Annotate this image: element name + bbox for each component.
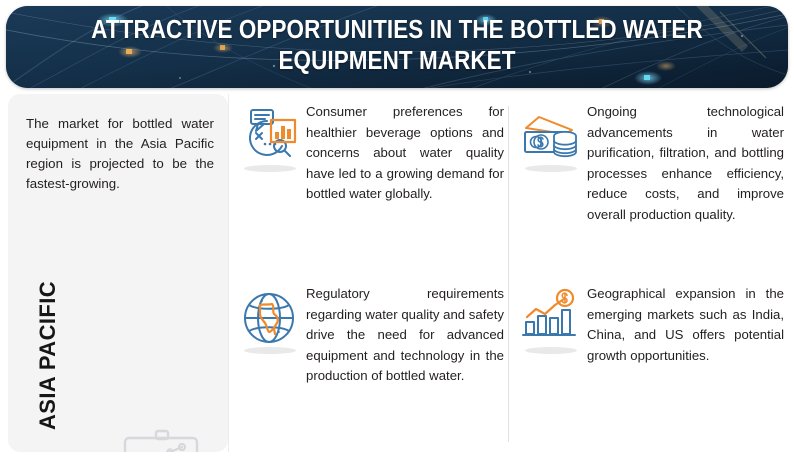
- region-label: ASIA PACIFIC: [35, 240, 61, 430]
- icon-shadow: [525, 165, 577, 172]
- header-banner: ATTRACTIVE OPPORTUNITIES IN THE BOTTLED …: [6, 6, 788, 88]
- insight-cell-regulatory-requirements: Regulatory requirements regarding water …: [228, 282, 508, 454]
- left-region-panel: The market for bottled water equipment i…: [8, 94, 228, 452]
- presentation-chart-search-icon: [112, 428, 216, 452]
- growth-bar-chart-icon: [519, 288, 581, 350]
- money-cash-coins-icon: [519, 106, 581, 168]
- insight-cell-technological-advancements: Ongoing technological advancements in wa…: [509, 100, 788, 272]
- infographic-root: ATTRACTIVE OPPORTUNITIES IN THE BOTTLED …: [0, 0, 794, 458]
- globe-icon: [238, 288, 300, 350]
- insight-text: Regulatory requirements regarding water …: [306, 282, 508, 387]
- icon-shadow: [244, 165, 296, 172]
- insight-text: Consumer preferences for healthier bever…: [306, 100, 508, 205]
- insight-text: Ongoing technological advancements in wa…: [587, 100, 788, 226]
- page-title: ATTRACTIVE OPPORTUNITIES IN THE BOTTLED …: [53, 15, 741, 77]
- insight-cell-consumer-preferences: Consumer preferences for healthier bever…: [228, 100, 508, 272]
- insight-cell-geographical-expansion: Geographical expansion in the emerging m…: [509, 282, 788, 454]
- market-analysis-icon: [238, 106, 300, 168]
- insight-grid: Consumer preferences for healthier bever…: [228, 92, 788, 454]
- icon-shadow: [244, 347, 296, 354]
- insight-text: Geographical expansion in the emerging m…: [587, 282, 788, 366]
- region-description: The market for bottled water equipment i…: [26, 114, 214, 194]
- icon-shadow: [525, 347, 577, 354]
